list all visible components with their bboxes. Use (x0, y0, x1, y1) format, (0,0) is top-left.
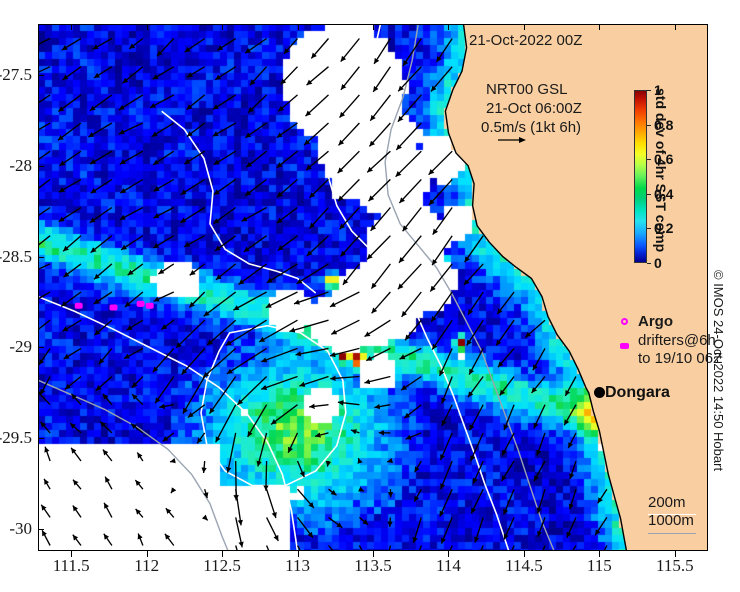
timestamp-label: 21-Oct-2022 00Z (469, 32, 582, 49)
current-vector (180, 208, 204, 223)
current-vector (387, 461, 390, 462)
current-vector (183, 377, 205, 414)
current-vector (245, 179, 266, 195)
current-vector (431, 292, 452, 322)
current-vector (570, 461, 576, 479)
current-vector (341, 236, 360, 257)
current-vector (388, 546, 391, 552)
current-vector (38, 264, 50, 274)
current-vector (534, 461, 545, 481)
current-vector (473, 546, 483, 552)
current-vector (330, 377, 359, 379)
current-vector (298, 489, 314, 508)
colorbar-tick-label: 1 (654, 82, 662, 98)
current-vector (338, 179, 359, 201)
current-vector (338, 151, 360, 173)
x-tick-top (675, 24, 676, 30)
current-vector (137, 453, 143, 462)
current-vector (329, 517, 343, 527)
current-vector (298, 461, 305, 477)
current-vector (163, 433, 174, 442)
current-vector (120, 208, 143, 220)
current-vector (42, 530, 50, 545)
y-tick (38, 257, 44, 258)
current-vector (297, 264, 329, 284)
y-tick (38, 529, 44, 530)
current-vector (306, 95, 329, 116)
current-vector (88, 123, 112, 137)
current-vector (294, 292, 329, 304)
x-tick-label: 111.5 (53, 556, 90, 576)
current-vector (121, 236, 143, 250)
current-vector (504, 517, 514, 539)
current-vector (464, 264, 483, 285)
y-tick (38, 347, 44, 348)
current-vector (187, 95, 205, 110)
y-tick-label: -30 (0, 519, 32, 539)
x-tick-label: 114 (436, 556, 461, 576)
current-vector (213, 123, 236, 136)
colorbar-tick (647, 125, 651, 126)
x-tick-top (448, 24, 449, 30)
current-vector (71, 394, 81, 405)
colorbar-tick-label: 0.6 (654, 151, 673, 167)
vector-scale-label: 0.5m/s (1kt 6h) (481, 119, 581, 136)
current-vector (60, 151, 82, 166)
current-vector (94, 292, 112, 304)
current-vector (205, 517, 208, 520)
current-vector (61, 292, 81, 306)
current-vector (371, 208, 391, 231)
colorbar-title: std dev of 4hr SST comp (653, 88, 669, 268)
current-vector (366, 348, 390, 360)
current-vector (185, 39, 205, 53)
current-vector (267, 517, 279, 541)
current-vector (99, 348, 112, 364)
current-vector (165, 534, 174, 546)
colorbar-tick (647, 194, 651, 195)
current-vector (38, 151, 50, 165)
current-vector (442, 405, 452, 426)
current-vector (330, 292, 360, 307)
current-vector (120, 179, 143, 193)
current-vector (339, 123, 360, 145)
current-vector (369, 179, 391, 201)
current-vector (90, 208, 112, 223)
current-vector (166, 508, 174, 517)
x-tick-top (71, 24, 72, 30)
current-vector (567, 517, 576, 537)
current-vector (369, 123, 390, 146)
legend-label-drifters-time: to 19/10 06Z (638, 350, 722, 367)
depth-line-200m (648, 514, 696, 515)
current-vector (154, 179, 174, 191)
current-vector (150, 95, 174, 108)
current-vector (502, 461, 514, 481)
current-vector (136, 509, 143, 518)
current-vector (437, 39, 453, 63)
current-vector (266, 292, 298, 308)
current-vector (103, 450, 112, 461)
current-vector (364, 377, 390, 383)
current-vector (415, 461, 422, 472)
current-vector (93, 39, 112, 50)
credit-label: © IMOS 24-Oct-2022 14:50 Hobart (711, 270, 726, 471)
current-vector (329, 489, 337, 495)
x-tick-top (298, 24, 299, 30)
current-vector (217, 39, 235, 51)
legend-label-argo: Argo (638, 313, 673, 330)
current-vector (135, 480, 143, 489)
colorbar-tick (647, 159, 651, 160)
current-vector (58, 123, 81, 140)
current-vector (271, 405, 297, 425)
current-vector (214, 208, 236, 224)
y-tick (38, 75, 44, 76)
current-vector (429, 179, 452, 205)
current-vector (250, 67, 267, 86)
current-vector (73, 480, 81, 490)
current-vector (502, 433, 514, 456)
current-vector (154, 292, 174, 301)
x-tick-label: 113.5 (354, 556, 392, 576)
current-vector (365, 320, 391, 336)
current-vector (288, 433, 297, 453)
current-vector (296, 348, 329, 354)
x-tick-label: 115 (587, 556, 612, 576)
current-vector (374, 39, 390, 64)
current-vector (367, 151, 390, 172)
current-vector (504, 489, 514, 515)
current-vector (40, 377, 50, 395)
current-vector (498, 348, 514, 367)
current-vector (214, 179, 236, 194)
current-vector (188, 405, 205, 418)
current-vector (359, 489, 364, 491)
current-vector (304, 123, 328, 145)
current-vector (429, 151, 453, 175)
current-vector (372, 292, 391, 313)
current-vector (430, 264, 452, 292)
current-vector (341, 39, 360, 62)
current-vector (412, 546, 421, 552)
current-vector (343, 264, 360, 285)
colorbar-tick (647, 263, 651, 264)
current-vector (307, 67, 329, 85)
current-vector (403, 39, 421, 67)
current-vector (123, 67, 143, 84)
current-vector (155, 377, 174, 404)
figure-root: 21-Oct-2022 00Z NRT00 GSL 21-Oct 06:00Z … (0, 0, 740, 592)
current-vector (398, 264, 421, 289)
current-vector (564, 405, 576, 426)
current-vector (534, 405, 545, 429)
current-vector (414, 489, 421, 502)
current-vector (538, 489, 545, 513)
y-tick-label: -28 (0, 156, 32, 176)
current-vector (161, 320, 173, 329)
current-vector (127, 320, 143, 330)
current-vector (119, 95, 143, 110)
current-vector (187, 123, 205, 137)
current-vector (62, 39, 81, 51)
current-vector (187, 67, 205, 78)
depth-label-200m: 200m (648, 494, 694, 512)
current-vector (119, 123, 143, 134)
current-vector (402, 292, 422, 317)
current-vector (64, 348, 81, 359)
depth-contour-key: 200m 1000m (648, 494, 694, 530)
current-vector (120, 151, 143, 164)
current-vector (277, 208, 298, 224)
depth-line-1000m (648, 533, 696, 534)
current-vector (299, 377, 328, 387)
current-vector (309, 179, 328, 198)
current-vector (245, 123, 266, 138)
current-vector (351, 430, 359, 433)
y-tick-label: -29 (0, 337, 32, 357)
current-vector (532, 377, 545, 393)
current-vector (62, 320, 81, 331)
current-vector (374, 405, 390, 408)
current-vector (399, 236, 421, 263)
argo-marker-icon (621, 318, 628, 325)
current-vector (440, 348, 453, 376)
x-tick-label: 112 (134, 556, 159, 576)
x-tick-top (222, 24, 223, 30)
x-tick-label: 114.5 (505, 556, 543, 576)
current-vector (210, 377, 236, 414)
current-vector (327, 461, 328, 467)
drifter-marker-icon (620, 343, 629, 349)
current-vector (370, 95, 390, 121)
colorbar-tick-label: 0.2 (654, 220, 673, 236)
current-vector (138, 534, 143, 546)
current-vector (65, 377, 81, 390)
current-vector (153, 67, 174, 80)
current-vector (595, 517, 607, 535)
colorbar-tick (647, 90, 651, 91)
current-vector (525, 320, 545, 337)
x-tick-label: 112.5 (203, 556, 241, 576)
current-vector (504, 405, 514, 430)
current-vector (537, 433, 545, 456)
current-vector (396, 123, 421, 150)
colorbar-tick-label: 0 (654, 255, 662, 271)
current-vector (403, 208, 422, 232)
current-vectors (38, 24, 708, 551)
current-vector (310, 208, 329, 229)
current-vector (358, 458, 359, 461)
current-vector (176, 320, 205, 348)
current-vector (340, 95, 360, 118)
current-vector (171, 489, 174, 493)
current-vector (258, 433, 267, 467)
current-vector (277, 151, 298, 168)
current-vector (125, 292, 143, 307)
current-vector (565, 377, 576, 396)
current-vector (399, 179, 421, 203)
current-vector (38, 292, 50, 304)
current-vector (398, 95, 421, 122)
current-vector (500, 377, 514, 396)
current-vector (94, 264, 112, 279)
current-vector (267, 489, 276, 518)
current-vector (242, 208, 267, 222)
current-vector (38, 208, 50, 221)
current-vector (131, 424, 143, 433)
current-vector (406, 433, 422, 439)
current-vector (398, 67, 421, 92)
current-vector (401, 377, 421, 391)
current-vector (182, 348, 205, 374)
current-vector (153, 151, 174, 165)
current-vector (331, 320, 359, 334)
current-vector (233, 292, 266, 310)
current-vector (227, 348, 267, 373)
current-vector (94, 320, 112, 335)
current-vector (216, 405, 236, 443)
colorbar-tick-label: 0.4 (654, 186, 673, 202)
current-vector (73, 506, 81, 518)
current-vector (197, 433, 205, 444)
current-vector (170, 461, 174, 462)
x-tick-top (599, 24, 600, 30)
x-tick-label: 115.5 (656, 556, 694, 576)
current-vector (157, 39, 174, 57)
current-vector (311, 39, 328, 59)
current-vector (307, 236, 329, 256)
current-vector (215, 67, 236, 80)
place-label-dongara: Dongara (605, 384, 670, 402)
current-vector (298, 517, 314, 537)
current-vector (128, 264, 143, 275)
y-tick-label: -27.5 (0, 65, 32, 85)
current-vector (277, 123, 298, 138)
current-vector (204, 292, 236, 316)
current-vector (440, 489, 452, 517)
current-vector (467, 320, 484, 345)
product-time-label: 21-Oct 06:00Z (486, 100, 582, 117)
current-vector (471, 489, 483, 513)
current-vector (246, 151, 266, 167)
current-vector (400, 348, 422, 359)
current-vector (216, 264, 236, 280)
current-vector (244, 236, 267, 252)
current-vector (124, 348, 143, 358)
current-vector (103, 394, 112, 405)
current-vector (306, 151, 329, 170)
x-tick-top (524, 24, 525, 30)
place-marker-dongara (594, 387, 605, 398)
current-vector (204, 461, 205, 473)
current-vector (184, 236, 205, 247)
current-vector (359, 517, 368, 524)
current-vector (237, 377, 266, 405)
current-vector (132, 394, 143, 405)
current-vector (45, 447, 50, 461)
current-vector (330, 348, 360, 356)
current-vector (91, 179, 112, 193)
current-vector (228, 433, 236, 473)
current-vector (442, 546, 452, 552)
current-vector (433, 208, 453, 235)
current-vector (63, 236, 81, 252)
current-vector (468, 377, 483, 398)
current-vector (96, 377, 112, 391)
current-vector (441, 433, 453, 460)
current-vector (189, 292, 204, 308)
current-vector (475, 517, 483, 542)
current-vector (70, 423, 81, 433)
current-vector (471, 433, 484, 461)
current-vector (441, 461, 453, 489)
current-vector (315, 433, 328, 437)
y-tick-label: -28.5 (0, 247, 32, 267)
current-vector (390, 517, 391, 527)
current-vector (59, 208, 81, 222)
current-vector (248, 95, 267, 113)
current-vector (73, 535, 81, 546)
current-vector (38, 179, 50, 194)
current-vector (373, 67, 390, 92)
current-vector (105, 477, 112, 490)
current-vector (284, 39, 298, 54)
current-vector (497, 292, 514, 314)
current-vector (442, 377, 452, 404)
current-vector (414, 517, 422, 543)
current-vector (431, 67, 452, 92)
current-vector (158, 264, 173, 274)
current-vector (245, 39, 267, 54)
colorbar-tick-label: 0.8 (654, 117, 673, 133)
current-vector (505, 546, 514, 552)
current-vector (154, 208, 174, 219)
current-vector (38, 320, 50, 334)
current-vector (38, 39, 50, 49)
current-vector (496, 320, 514, 345)
current-vector (341, 67, 360, 90)
current-vector (538, 517, 545, 536)
current-vector (181, 179, 205, 194)
current-vector (90, 95, 112, 111)
current-vector (58, 95, 81, 112)
current-vector (41, 505, 50, 518)
current-vector (203, 348, 236, 377)
current-vector (71, 448, 81, 461)
current-vector (132, 377, 143, 388)
product-name-label: NRT00 GSL (486, 81, 567, 98)
current-vector (104, 534, 112, 546)
current-vector (152, 123, 174, 137)
current-vector (39, 348, 50, 365)
current-vector (468, 292, 483, 315)
current-vector (598, 489, 607, 503)
current-vector (568, 433, 576, 448)
current-vector (371, 264, 390, 289)
current-vector (266, 461, 267, 491)
current-vector (38, 67, 50, 78)
current-vector (41, 422, 51, 433)
map-plot-area[interactable] (38, 24, 708, 551)
current-vector (396, 151, 422, 177)
current-vector (278, 95, 297, 112)
current-vector (432, 236, 452, 265)
current-vector (184, 151, 204, 164)
current-vector (213, 95, 236, 110)
current-vector (104, 503, 112, 518)
y-tick (38, 438, 44, 439)
